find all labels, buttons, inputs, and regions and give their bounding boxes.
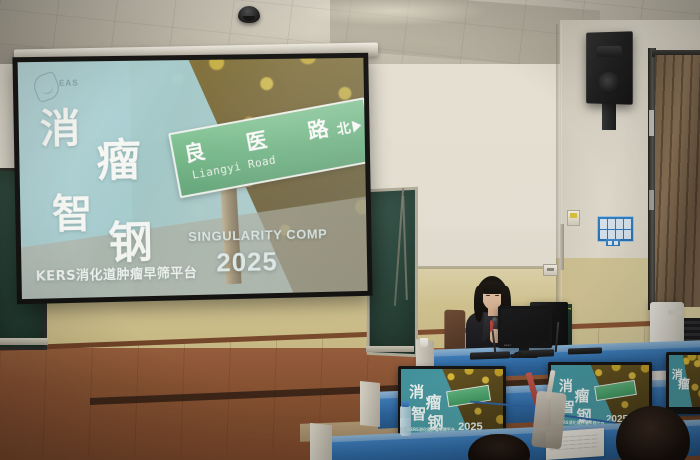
shoulder-bag [531,391,567,450]
front-row-desk-side-panel [360,381,380,427]
chalk-tray-left [0,338,48,345]
presentation-slide: EAS 消 瘤 智 钢 良 医 路 Liangyi Road [18,58,368,299]
water-bottle-cap [402,401,409,407]
sign-cell [624,230,631,240]
keyboard[interactable] [518,349,554,357]
podium-monitor[interactable]: acer [498,306,552,348]
chalk-tray-right [366,346,414,352]
sign-cell [624,219,631,229]
podium-monitor-screen [501,309,549,341]
blackboard-right [367,187,418,358]
sign-cell [616,219,623,229]
wall-utility-box [567,210,580,226]
speaker-mount-bracket [602,100,616,130]
dome-camera-icon [238,6,260,23]
window-glint [649,110,654,136]
monitor-slide-char-2: 瘤 [575,389,590,404]
keyboard[interactable] [470,351,510,359]
slide-projection-haze [18,58,368,299]
speaker-woofer [598,72,619,94]
lecture-hall-photo: EAS 消 瘤 智 钢 良 医 路 Liangyi Road [0,0,700,460]
monitor-brand-label: acer [504,343,511,347]
monitor-slide-char-1: 消 [409,385,424,400]
monitor-slide-mirror: 消 瘤 [669,355,700,407]
projection-screen-surface: EAS 消 瘤 智 钢 良 医 路 Liangyi Road [18,58,368,299]
projection-screen: EAS 消 瘤 智 钢 良 医 路 Liangyi Road [12,53,372,304]
sign-cell [600,219,607,229]
back-row-monitor[interactable]: 消 瘤 [666,352,700,414]
sign-cell [608,219,615,229]
window-curtain [655,55,700,307]
keyboard[interactable] [568,347,602,354]
back-row-monitor-screen: 消 瘤 [669,355,700,407]
wall-conduit [560,224,564,270]
monitor-slide-char-3: 智 [411,407,426,422]
wall-notice-sign-secondary [606,239,620,246]
monitor-slide-char-2: 瘤 [678,378,690,390]
monitor-slide-char-2: 瘤 [425,395,441,411]
sign-cell [616,230,623,240]
mouse[interactable] [514,352,522,357]
water-bottle [400,406,411,436]
ceiling-light-glow [300,0,490,26]
back-row-desk-side-panel [310,423,332,460]
speaker-tweeter [597,46,622,57]
window-glint-lower [649,190,654,210]
air-conditioner-panel [668,310,682,315]
sign-cell [600,230,607,240]
power-outlet [543,264,558,276]
wall-loudspeaker [586,31,633,104]
sign-cell [608,230,615,240]
desk-cup [420,338,428,347]
presenter-hair-left [474,286,483,322]
